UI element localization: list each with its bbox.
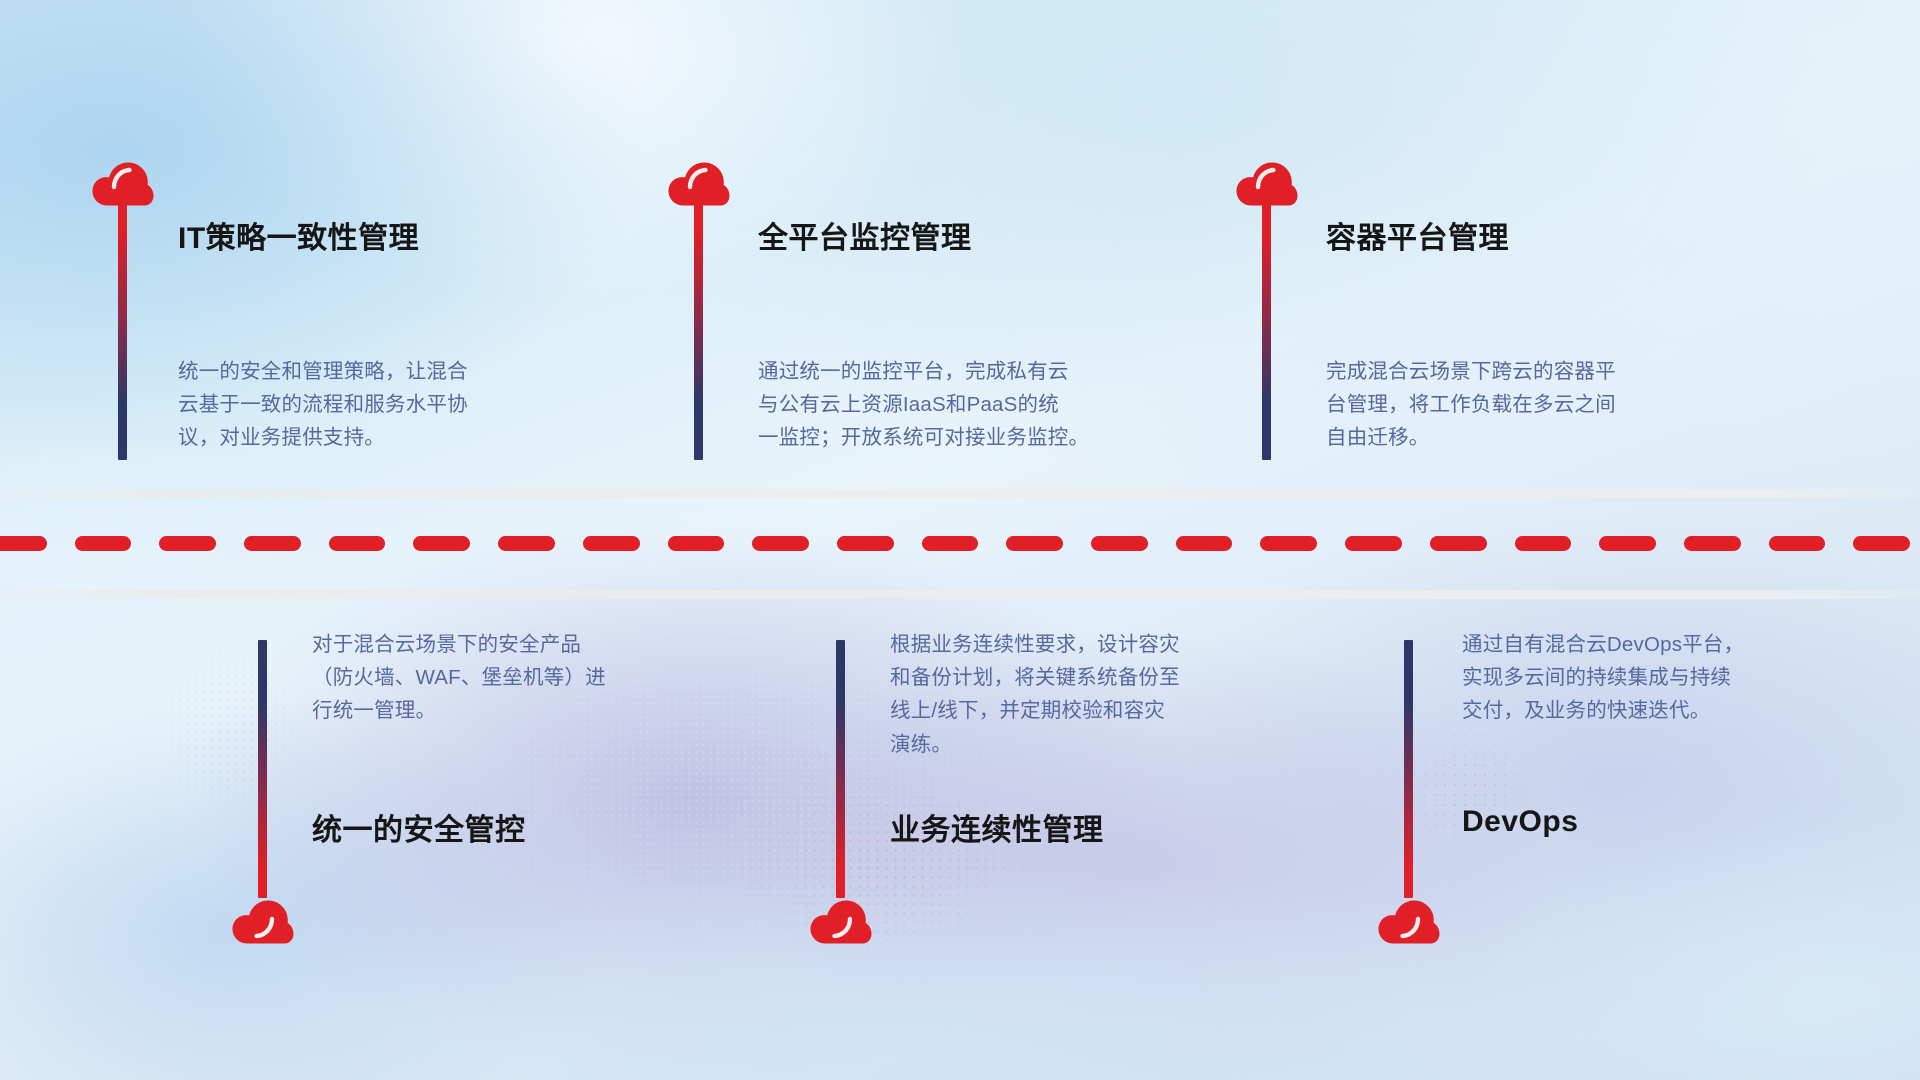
feature-title: 全平台监控管理 bbox=[758, 213, 972, 257]
dash-segment bbox=[668, 536, 725, 551]
dash-segment bbox=[1176, 536, 1233, 551]
description-line: 和备份计划，将关键系统备份至 bbox=[890, 661, 1320, 694]
description-line: 与公有云上资源IaaS和PaaS的统 bbox=[758, 388, 1228, 421]
dash-segment bbox=[1006, 536, 1063, 551]
connector-line bbox=[1404, 640, 1413, 898]
description-line: 根据业务连续性要求，设计容灾 bbox=[890, 628, 1320, 661]
feature-item-top_row-3[interactable]: 容器平台管理完成混合云场景下跨云的容器平台管理，将工作负载在多云之间自由迁移。 bbox=[0, 0, 560, 480]
description-line: 实现多云间的持续集成与持续 bbox=[1462, 661, 1892, 694]
dash-segment bbox=[1260, 536, 1317, 551]
description-line: 完成混合云场景下跨云的容器平 bbox=[1326, 355, 1766, 388]
description-line: 线上/线下，并定期校验和容灾 bbox=[890, 694, 1320, 727]
description-line: 台管理，将工作负载在多云之间 bbox=[1326, 388, 1766, 421]
dashed-red-line bbox=[0, 536, 1920, 551]
dash-segment bbox=[1599, 536, 1656, 551]
bottom-feature-row: 统一的安全管控对于混合云场景下的安全产品（防火墙、WAF、堡垒机等）进行统一管理… bbox=[0, 610, 1920, 1010]
description-line: 一监控；开放系统可对接业务监控。 bbox=[758, 421, 1228, 454]
dash-segment bbox=[413, 536, 470, 551]
dash-segment bbox=[0, 536, 47, 551]
connector-line bbox=[694, 200, 703, 460]
dash-segment bbox=[75, 536, 132, 551]
dash-segment bbox=[922, 536, 979, 551]
divider-rail-top bbox=[0, 489, 1920, 498]
dash-segment bbox=[1091, 536, 1148, 551]
feature-title: 业务连续性管理 bbox=[890, 805, 1104, 849]
connector-line bbox=[836, 640, 845, 898]
dash-segment bbox=[244, 536, 301, 551]
cloud-icon bbox=[810, 900, 872, 944]
dash-segment bbox=[1769, 536, 1826, 551]
divider-rail-bottom bbox=[0, 590, 1920, 599]
description-line: 演练。 bbox=[890, 728, 1320, 761]
dash-segment bbox=[329, 536, 386, 551]
top-feature-row: IT策略一致性管理统一的安全和管理策略，让混合云基于一致的流程和服务水平协议，对… bbox=[0, 0, 1920, 489]
dash-segment bbox=[583, 536, 640, 551]
connector-line bbox=[1262, 200, 1271, 460]
dash-segment bbox=[1345, 536, 1402, 551]
cloud-icon bbox=[1378, 900, 1440, 944]
dash-segment bbox=[1515, 536, 1572, 551]
dash-segment bbox=[752, 536, 809, 551]
feature-description: 根据业务连续性要求，设计容灾和备份计划，将关键系统备份至线上/线下，并定期校验和… bbox=[890, 628, 1320, 761]
divider-band bbox=[0, 489, 1920, 599]
feature-item-bottom_row-3[interactable]: DevOps通过自有混合云DevOps平台，实现多云间的持续集成与持续交付，及业… bbox=[0, 610, 620, 990]
description-line: 自由迁移。 bbox=[1326, 421, 1766, 454]
feature-description: 完成混合云场景下跨云的容器平台管理，将工作负载在多云之间自由迁移。 bbox=[1326, 355, 1766, 455]
dash-segment bbox=[1853, 536, 1910, 551]
description-line: 通过统一的监控平台，完成私有云 bbox=[758, 355, 1228, 388]
dash-segment bbox=[498, 536, 555, 551]
description-line: 交付，及业务的快速迭代。 bbox=[1462, 694, 1892, 727]
dash-segment bbox=[837, 536, 894, 551]
description-line: 通过自有混合云DevOps平台， bbox=[1462, 628, 1892, 661]
feature-description: 通过统一的监控平台，完成私有云与公有云上资源IaaS和PaaS的统一监控；开放系… bbox=[758, 355, 1228, 455]
feature-description: 通过自有混合云DevOps平台，实现多云间的持续集成与持续交付，及业务的快速迭代… bbox=[1462, 628, 1892, 728]
feature-title: 容器平台管理 bbox=[1326, 213, 1509, 257]
dash-segment bbox=[1684, 536, 1741, 551]
feature-title: DevOps bbox=[1462, 805, 1578, 839]
dash-segment bbox=[159, 536, 216, 551]
dash-segment bbox=[1430, 536, 1487, 551]
